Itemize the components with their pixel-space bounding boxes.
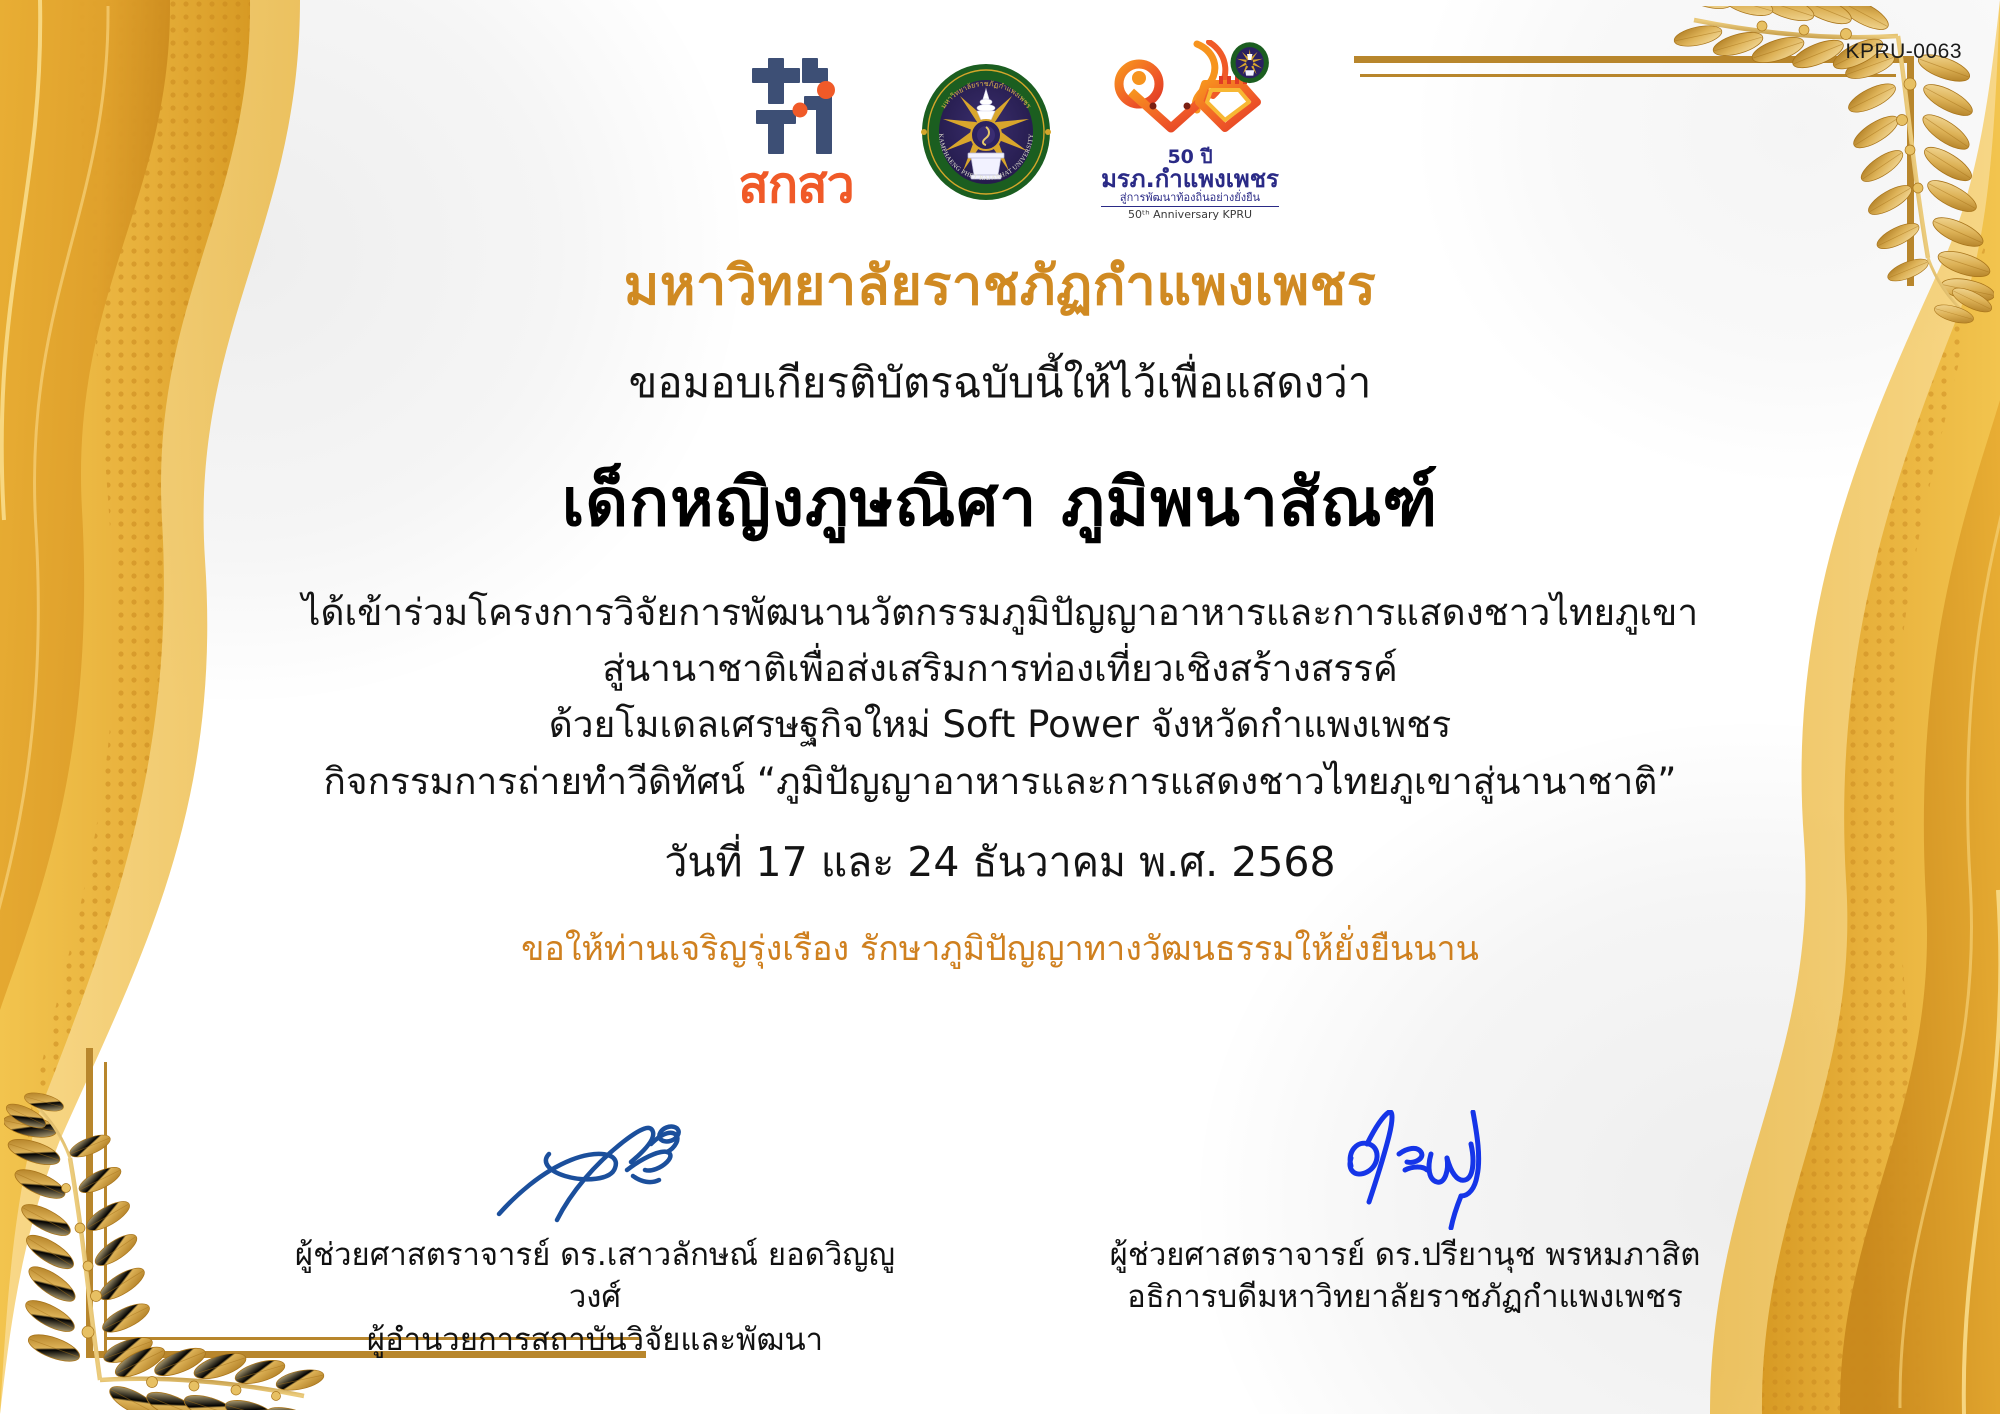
organization-name: มหาวิทยาลัยราชภัฏกำแพงเพชร	[624, 242, 1376, 328]
logo-row: สกสว	[721, 52, 1279, 212]
signature-row: ผู้ช่วยศาสตราจารย์ ดร.เสาวลักษณ์ ยอดวิญญ…	[0, 1110, 2000, 1362]
sksw-wordmark: สกสว	[721, 162, 871, 210]
anniversary-line-4: 50ᵗʰ Anniversary KPRU	[1101, 207, 1279, 224]
body-line: ด้วยโมเดลเศรษฐกิจใหม่ Soft Power จังหวัด…	[302, 697, 1698, 753]
sksw-mark-icon	[740, 54, 852, 158]
kpru-seal-logo: มหาวิทยาลัยราชภัฏกำแพงเพชร KAMPHAENG PHE…	[917, 63, 1055, 201]
signature-block-director: ผู้ช่วยศาสตราจารย์ ดร.เสาวลักษณ์ ยอดวิญญ…	[285, 1110, 905, 1362]
signatory-role: อธิการบดีมหาวิทยาลัยราชภัฏกำแพงเพชร	[1095, 1276, 1715, 1319]
body-line: ได้เข้าร่วมโครงการวิจัยการพัฒนานวัตกรรมภ…	[302, 585, 1698, 641]
anniversary-mark-icon	[1101, 40, 1279, 144]
signature-block-president: ผู้ช่วยศาสตราจารย์ ดร.ปรียานุช พรหมภาสิต…	[1095, 1110, 1715, 1362]
certificate-id: KPRU-0063	[1845, 40, 1962, 64]
signature-saowaluk-icon	[285, 1110, 905, 1230]
kpru-50th-anniversary-logo: 50 ปี มรภ.กำแพงเพชร สู่การพัฒนาท้องถิ่นอ…	[1101, 40, 1279, 224]
certificate-page: KPRU-0063	[0, 0, 2000, 1414]
body-paragraph: ได้เข้าร่วมโครงการวิจัยการพัฒนานวัตกรรมภ…	[302, 585, 1698, 810]
sksw-logo: สกสว	[721, 54, 871, 210]
body-line: กิจกรรมการถ่ายทำวีดิทัศน์ “ภูมิปัญญาอาหา…	[302, 754, 1698, 810]
recipient-name: เด็กหญิงภูษณิศา ภูมิพนาสัณฑ์	[562, 450, 1439, 555]
award-statement: ขอมอบเกียรติบัตรฉบับนี้ให้ไว้เพื่อแสดงว่…	[629, 350, 1372, 416]
signatory-name: ผู้ช่วยศาสตราจารย์ ดร.ปรียานุช พรหมภาสิต	[1095, 1234, 1715, 1277]
signatory-name: ผู้ช่วยศาสตราจารย์ ดร.เสาวลักษณ์ ยอดวิญญ…	[285, 1234, 905, 1320]
signatory-role: ผู้อำนวยการสถาบันวิจัยและพัฒนา	[285, 1319, 905, 1362]
blessing-text: ขอให้ท่านเจริญรุ่งเรือง รักษาภูมิปัญญาทา…	[521, 921, 1479, 975]
body-line: สู่นานาชาติเพื่อส่งเสริมการท่องเที่ยวเชิ…	[302, 641, 1698, 697]
signature-preeyanuch-icon	[1095, 1110, 1715, 1230]
anniversary-line-2: มรภ.กำแพงเพชร	[1101, 167, 1279, 192]
event-date: วันที่ 17 และ 24 ธันวาคม พ.ศ. 2568	[664, 830, 1335, 895]
anniversary-line-3: สู่การพัฒนาท้องถิ่นอย่างยั่งยืน	[1101, 192, 1279, 207]
